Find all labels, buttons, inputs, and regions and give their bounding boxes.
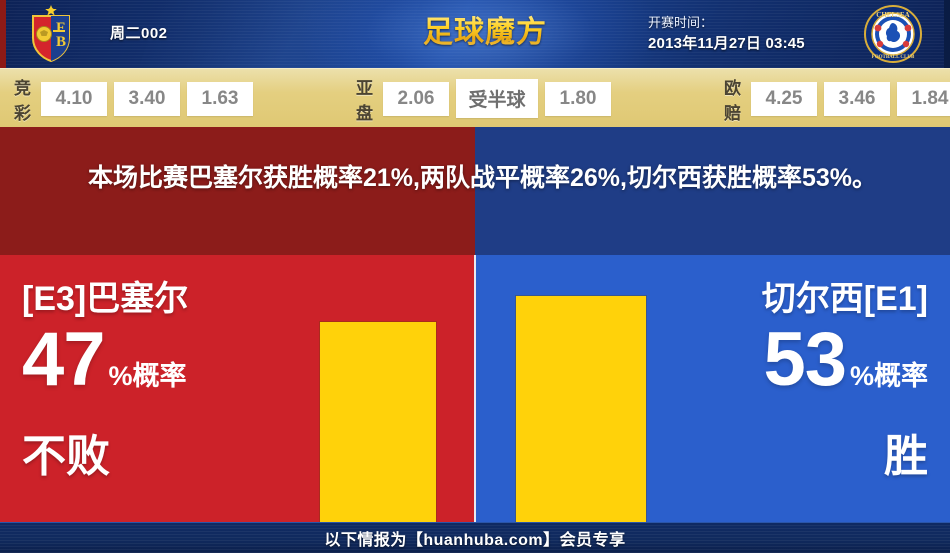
odds-jingcai-home[interactable]: 4.10 <box>41 82 107 116</box>
odds-oupei-away[interactable]: 1.84 <box>897 82 950 116</box>
away-probability-bar <box>516 296 646 522</box>
away-team-name: 切尔西[E1] <box>628 279 928 319</box>
home-team-name: [E3]巴塞尔 <box>22 279 302 319</box>
odds-group-oupei: 欧赔 4.25 3.46 1.84 <box>724 74 950 124</box>
kickoff-info: 开赛时间： 2013年11月27日 03:45 <box>648 12 848 54</box>
away-probability-value: 53 <box>763 317 846 402</box>
home-verdict: 不败 <box>22 430 302 484</box>
odds-label-oupei: 欧赔 <box>724 74 742 124</box>
probability-chart: [E3]巴塞尔 47%概率 不败 切尔西[E1] 53%概率 胜 <box>0 255 950 522</box>
odds-jingcai-away[interactable]: 1.63 <box>187 82 253 116</box>
brand-logo-text: 足球魔方 <box>410 8 560 58</box>
away-probability-unit: %概率 <box>850 361 928 391</box>
match-header: F B 周二002 足球魔方 开赛时间： 2013年11月27日 03:45 C… <box>0 0 950 68</box>
away-team-panel: 切尔西[E1] 53%概率 胜 <box>476 255 950 522</box>
away-team-info: 切尔西[E1] 53%概率 胜 <box>628 279 928 484</box>
svg-text:B: B <box>56 34 66 50</box>
match-prediction-card: F B 周二002 足球魔方 开赛时间： 2013年11月27日 03:45 C… <box>0 0 950 552</box>
odds-group-yapan: 亚盘 2.06 受半球 1.80 <box>356 74 618 124</box>
header-left-edge <box>0 0 6 68</box>
odds-group-jingcai: 竞彩 4.10 3.40 1.63 <box>14 74 260 124</box>
kickoff-datetime: 2013年11月27日 03:45 <box>648 33 848 54</box>
odds-yapan-home[interactable]: 2.06 <box>383 82 449 116</box>
odds-oupei-draw[interactable]: 3.46 <box>824 82 890 116</box>
svg-text:CHELSEA: CHELSEA <box>876 11 909 19</box>
odds-bar: 竞彩 4.10 3.40 1.63 亚盘 2.06 受半球 1.80 欧赔 4.… <box>0 68 950 128</box>
home-probability-row: 47%概率 <box>22 321 302 420</box>
odds-jingcai-draw[interactable]: 3.40 <box>114 82 180 116</box>
home-team-info: [E3]巴塞尔 47%概率 不败 <box>22 279 302 484</box>
probability-summary-banner: 本场比赛巴塞尔获胜概率21%,两队战平概率26%,切尔西获胜概率53%。 <box>0 127 950 255</box>
home-probability-bar <box>320 322 436 522</box>
svg-text:FOOTBALL CLUB: FOOTBALL CLUB <box>872 55 915 60</box>
odds-label-yapan: 亚盘 <box>356 74 374 124</box>
odds-label-jingcai: 竞彩 <box>14 74 32 124</box>
header-right-edge <box>944 0 950 68</box>
probability-summary-text: 本场比赛巴塞尔获胜概率21%,两队战平概率26%,切尔西获胜概率53%。 <box>88 157 878 200</box>
membership-footer-text: 以下情报为【huanhuba.com】会员专享 <box>324 526 625 550</box>
kickoff-label: 开赛时间： <box>648 12 848 33</box>
home-probability-unit: %概率 <box>109 361 187 391</box>
home-probability-value: 47 <box>22 317 105 402</box>
odds-oupei-home[interactable]: 4.25 <box>751 82 817 116</box>
brand-logo[interactable]: 足球魔方 <box>410 8 560 60</box>
home-team-crest-icon: F B <box>20 4 82 64</box>
membership-footer: 以下情报为【huanhuba.com】会员专享 <box>0 522 950 553</box>
match-number: 周二002 <box>110 22 290 43</box>
away-probability-row: 53%概率 <box>628 321 928 420</box>
away-verdict: 胜 <box>628 430 928 484</box>
odds-yapan-handicap[interactable]: 受半球 <box>456 79 538 118</box>
odds-yapan-away[interactable]: 1.80 <box>545 82 611 116</box>
home-team-panel: [E3]巴塞尔 47%概率 不败 <box>0 255 474 522</box>
away-team-crest-icon: CHELSEA FOOTBALL CLUB <box>862 4 924 64</box>
